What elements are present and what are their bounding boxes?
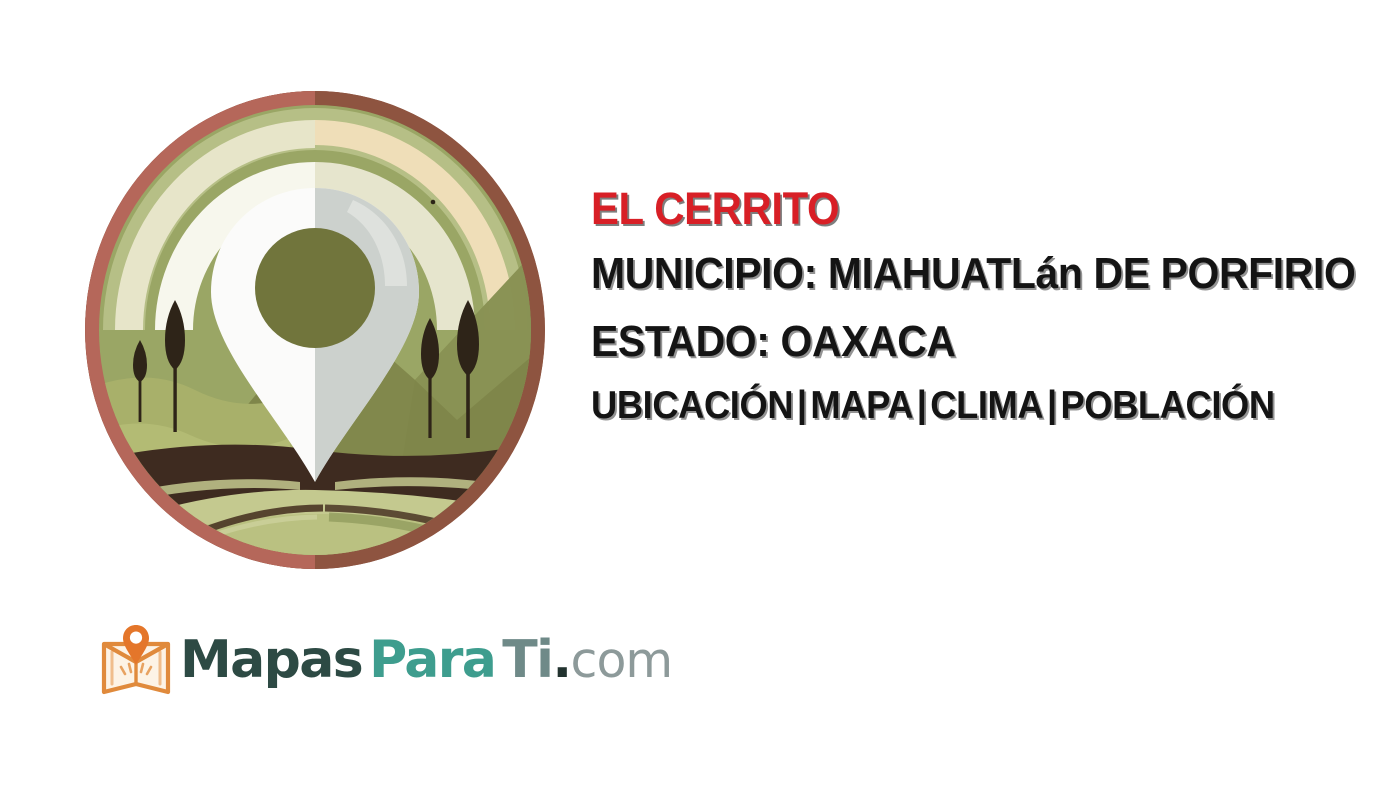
section-nav: UBICACIÓN|MAPA|CLIMA|POBLACIÓN xyxy=(591,386,1344,425)
nav-item-clima[interactable]: CLIMA xyxy=(930,384,1043,425)
nav-separator: | xyxy=(913,384,930,425)
nav-item-poblacion[interactable]: POBLACIÓN xyxy=(1060,384,1274,425)
nav-item-mapa[interactable]: MAPA xyxy=(810,384,913,425)
locality-emblem xyxy=(85,90,545,570)
brand-dot: . xyxy=(552,634,570,686)
nav-separator: | xyxy=(793,384,810,425)
page-root: EL CERRITO MUNICIPIO: MIAHUATLán DE PORF… xyxy=(0,0,1400,786)
brand-word-mapas: Mapas xyxy=(180,634,362,686)
page-title: EL CERRITO xyxy=(591,186,1344,231)
nav-separator: | xyxy=(1043,384,1060,425)
estado-line: ESTADO: OAXACA xyxy=(591,320,1344,364)
site-brand-logo[interactable]: MapasParaTi.com xyxy=(100,618,672,702)
municipio-line: MUNICIPIO: MIAHUATLán DE PORFIRIO xyxy=(591,252,1344,296)
brand-word-com: com xyxy=(571,636,673,685)
open-book-map-pin-icon xyxy=(100,622,172,698)
landscape-map-pin-emblem-icon xyxy=(85,90,545,570)
nav-item-ubicacion[interactable]: UBICACIÓN xyxy=(591,384,793,425)
brand-word-ti: Ti xyxy=(495,634,552,686)
brand-wordmark: MapasParaTi.com xyxy=(180,634,672,686)
locality-info-block: EL CERRITO MUNICIPIO: MIAHUATLán DE PORF… xyxy=(591,186,1400,425)
brand-word-para: Para xyxy=(362,634,495,686)
